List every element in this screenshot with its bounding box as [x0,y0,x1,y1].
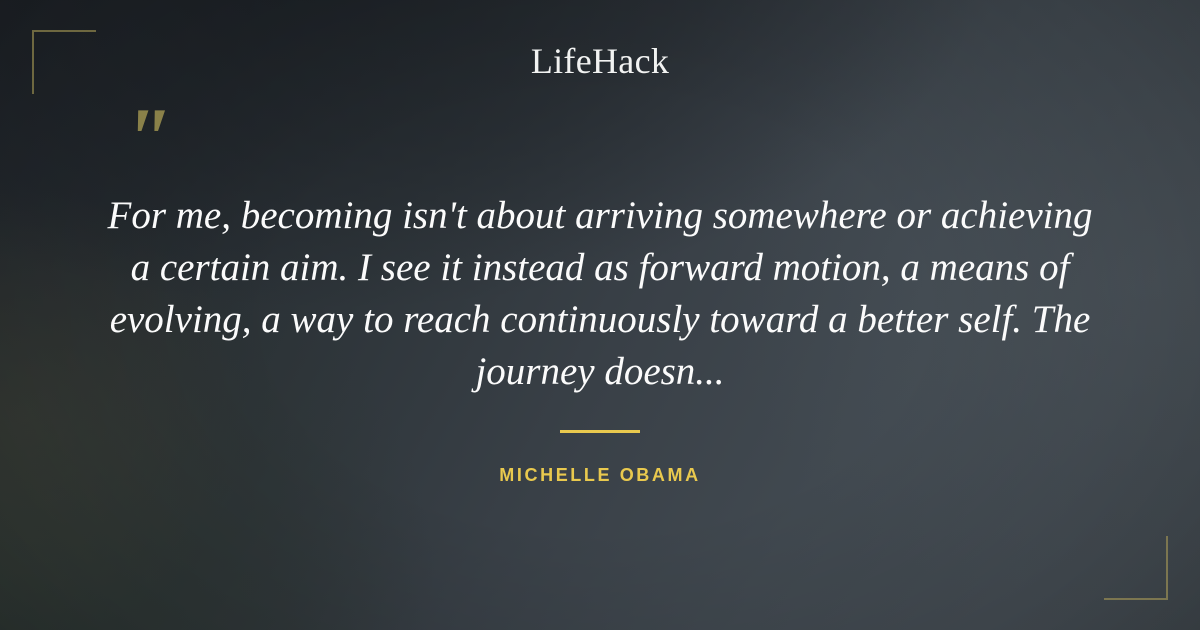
brand-header: LifeHack [0,40,1200,82]
quotation-mark-icon: " [122,96,171,184]
corner-bracket-bottom-right-icon [1104,536,1168,600]
brand-logo-text: LifeHack [531,41,669,81]
quote-author: MICHELLE OBAMA [0,465,1200,486]
quote-block: For me, becoming isn't about arriving so… [100,190,1100,398]
quote-card: LifeHack " For me, becoming isn't about … [0,0,1200,630]
attribution-divider [560,430,640,433]
quote-text: For me, becoming isn't about arriving so… [100,190,1100,398]
attribution-block: MICHELLE OBAMA [0,430,1200,486]
